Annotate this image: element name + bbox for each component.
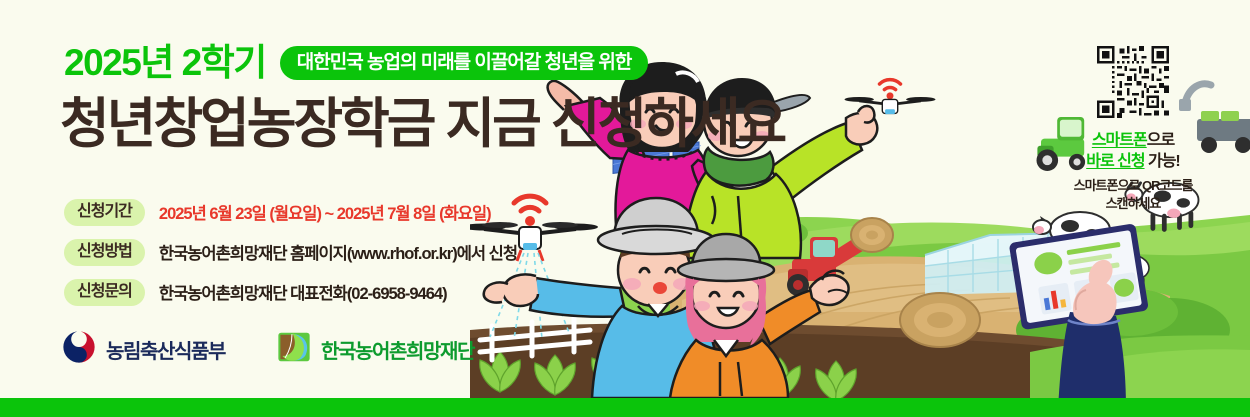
info-value-method[interactable]: 한국농어촌희망재단 홈페이지(www.rhof.or.kr)에서 신청 xyxy=(159,240,517,264)
left-content: 2025년 2학기 대한민국 농업의 미래를 이끌어갈 청년을 위한 청년창업농… xyxy=(0,0,560,417)
qr-head-dark-1: 으로 xyxy=(1147,132,1174,149)
info-label-method: 신청방법 xyxy=(64,239,145,266)
qr-section: 스마트폰으로 바로 신청 가능! 스마트폰으로 QR코드를 스캔하세요 xyxy=(1048,46,1218,214)
qr-subtext: 스마트폰으로 QR코드를 스캔하세요 xyxy=(1048,177,1218,213)
info-value-period: 2025년 6월 23일 (월요일) ~ 2025년 7월 8일 (화요일) xyxy=(159,200,491,224)
info-label-period: 신청기간 xyxy=(64,199,145,226)
info-row-contact: 신청문의 한국농어촌희망재단 대표전화(02-6958-9464) xyxy=(64,276,517,308)
qr-head-green-1: 스마트폰 xyxy=(1092,132,1147,149)
qr-sub-line-2: 스캔하세요 xyxy=(1048,195,1218,213)
logo-foundation-label: 한국농어촌희망재단 xyxy=(321,335,474,364)
info-label-contact: 신청문의 xyxy=(64,279,145,306)
logo-foundation: 한국농어촌희망재단 xyxy=(277,330,474,369)
hay-bale xyxy=(900,293,980,347)
promo-banner: 2025년 2학기 대한민국 농업의 미래를 이끌어갈 청년을 위한 청년창업농… xyxy=(0,0,1250,417)
logo-row: 농림축산식품부 한국농어촌희망재단 xyxy=(62,330,474,369)
qr-sub-line-1: 스마트폰으로 QR코드를 xyxy=(1048,177,1218,195)
info-value-contact: 한국농어촌희망재단 대표전화(02-6958-9464) xyxy=(159,280,447,304)
logo-ministry: 농림축산식품부 xyxy=(62,330,225,369)
qr-head-dark-2: 가능! xyxy=(1145,153,1180,170)
info-row-period: 신청기간 2025년 6월 23일 (월요일) ~ 2025년 7월 8일 (화… xyxy=(64,196,517,228)
qr-headline: 스마트폰으로 바로 신청 가능! xyxy=(1048,130,1218,172)
headline-line-1: 2025년 2학기 대한민국 농업의 미래를 이끌어갈 청년을 위한 xyxy=(64,44,648,81)
semester-text: 2025년 2학기 xyxy=(64,44,266,81)
green-leaf-icon xyxy=(277,330,311,369)
taegeuk-icon xyxy=(62,330,96,369)
tagline-badge: 대한민국 농업의 미래를 이끌어갈 청년을 위한 xyxy=(280,46,649,80)
info-list: 신청기간 2025년 6월 23일 (월요일) ~ 2025년 7월 8일 (화… xyxy=(64,196,517,316)
qr-code-icon[interactable] xyxy=(1048,46,1218,118)
info-row-method: 신청방법 한국농어촌희망재단 홈페이지(www.rhof.or.kr)에서 신청 xyxy=(64,236,517,268)
logo-ministry-label: 농림축산식품부 xyxy=(106,335,225,364)
qr-head-green-2: 바로 신청 xyxy=(1086,153,1144,170)
page-title: 청년창업농장학금 지금 신청하세요 xyxy=(60,96,784,153)
